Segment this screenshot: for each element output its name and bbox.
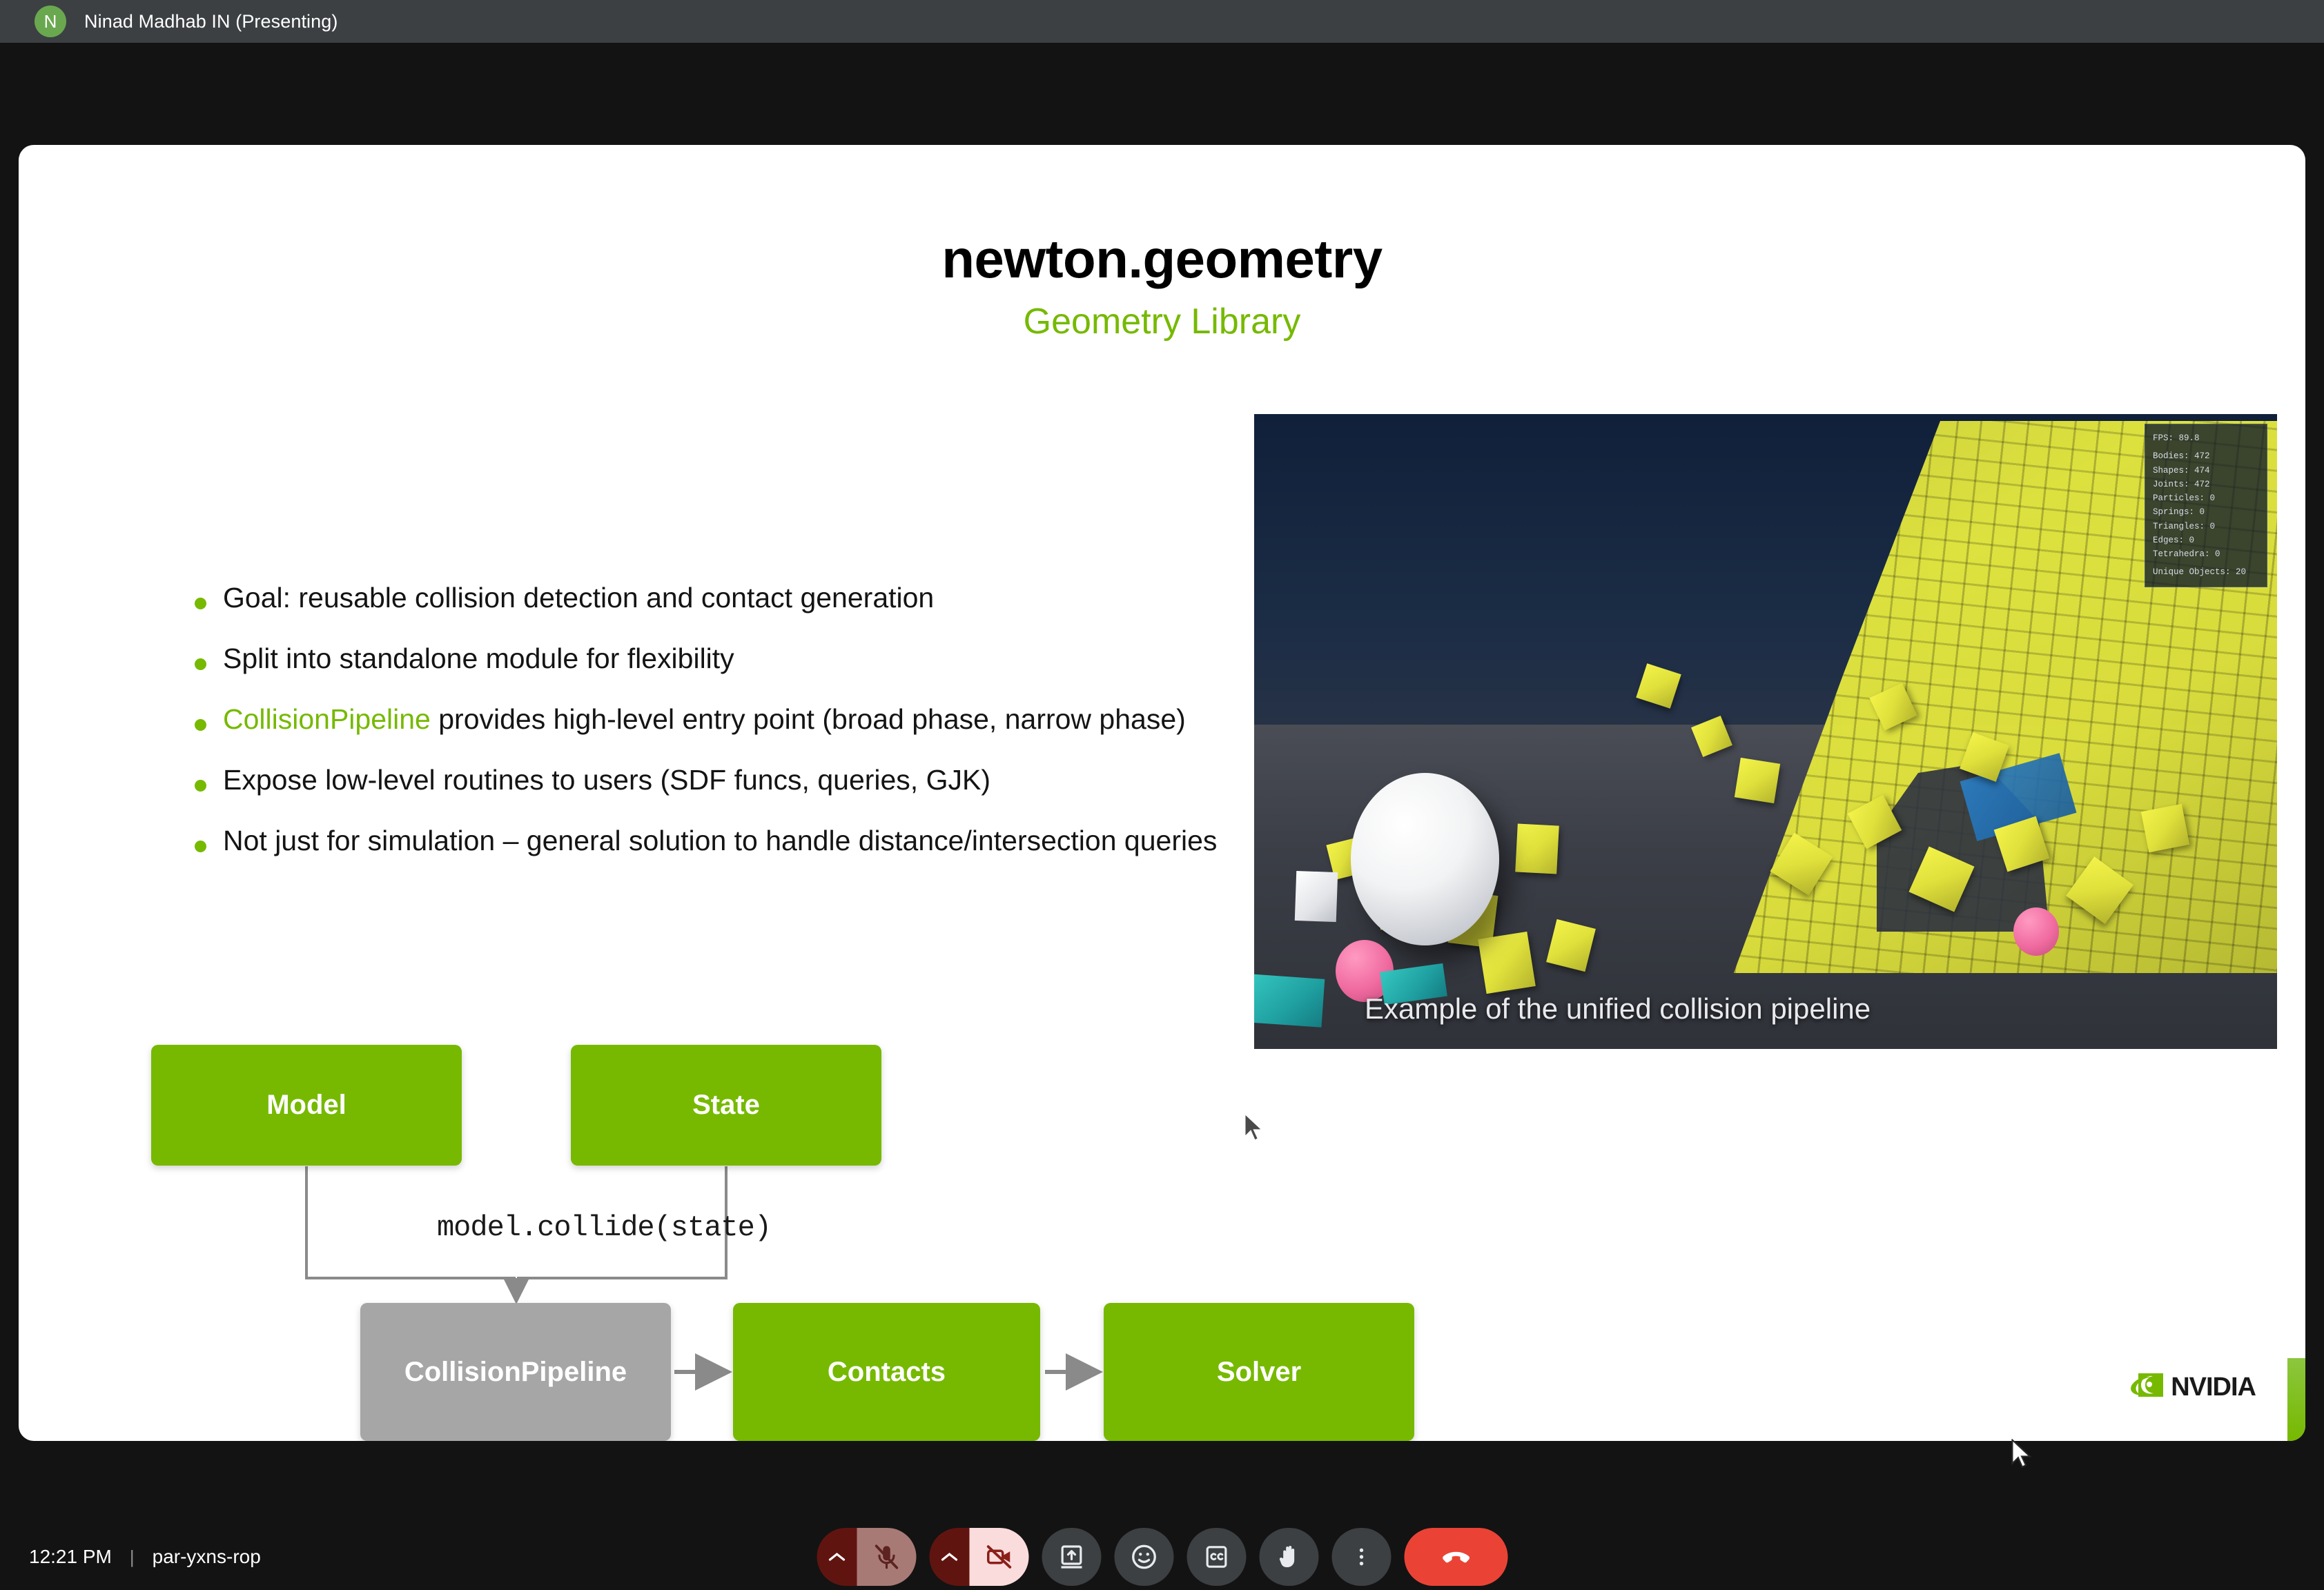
diagram-node-state[interactable]: State xyxy=(571,1045,881,1166)
white-sphere xyxy=(1351,773,1499,945)
phone-hangup-icon xyxy=(1439,1540,1472,1573)
pink-sphere xyxy=(2013,907,2059,956)
hud-joints: Joints: 472 xyxy=(2153,478,2259,491)
slide-title: newton.geometry xyxy=(19,228,2305,291)
microphone-mute-button[interactable] xyxy=(857,1528,916,1586)
list-item: Goal: reusable collision detection and c… xyxy=(195,580,1251,616)
nvidia-eye-icon xyxy=(2127,1372,2165,1402)
hud-fps: FPS: 89.8 xyxy=(2153,431,2259,445)
list-item: CollisionPipeline provides high-level en… xyxy=(195,701,1251,737)
chevron-up-icon xyxy=(939,1551,959,1563)
diagram-node-contacts[interactable]: Contacts xyxy=(733,1303,1040,1441)
hud-tetrahedra: Tetrahedra: 0 xyxy=(2153,547,2259,561)
bullet-list: Goal: reusable collision detection and c… xyxy=(195,580,1251,883)
presentation-slide[interactable]: newton.geometry Geometry Library Goal: r… xyxy=(19,145,2305,1441)
microphone-options-chevron[interactable] xyxy=(817,1528,857,1586)
camera-options-chevron[interactable] xyxy=(929,1528,969,1586)
meeting-bottom-bar: 12:21 PM | par-yxns-rop xyxy=(0,1524,2324,1590)
bullet-dot-icon xyxy=(195,719,206,731)
presenter-pill: N Ninad Madhab IN (Presenting) xyxy=(0,6,338,37)
bullet-dot-icon xyxy=(195,658,206,670)
hud-triangles: Triangles: 0 xyxy=(2153,520,2259,533)
cube xyxy=(2141,804,2189,852)
bullet-text-rest: provides high-level entry point (broad p… xyxy=(431,703,1186,735)
presenter-name: Ninad Madhab IN (Presenting) xyxy=(84,11,338,32)
microphone-toggle[interactable] xyxy=(817,1528,916,1586)
hud-edges: Edges: 0 xyxy=(2153,533,2259,547)
bullet-text: Goal: reusable collision detection and c… xyxy=(223,580,934,616)
bullet-text: Split into standalone module for flexibi… xyxy=(223,640,734,676)
avatar: N xyxy=(35,6,66,37)
nvidia-wordmark: NVIDIA xyxy=(2171,1373,2256,1402)
hud-bodies: Bodies: 472 xyxy=(2153,449,2259,463)
cube xyxy=(1735,758,1780,803)
hud-shapes: Shapes: 474 xyxy=(2153,464,2259,478)
bullet-text: Expose low-level routines to users (SDF … xyxy=(223,762,990,798)
status-separator: | xyxy=(130,1547,135,1568)
cube xyxy=(1636,663,1681,709)
list-item: Split into standalone module for flexibi… xyxy=(195,640,1251,676)
slide-subtitle: Geometry Library xyxy=(19,301,2305,342)
meeting-controls xyxy=(817,1528,1507,1586)
meeting-time: 12:21 PM xyxy=(29,1546,112,1568)
image-caption: Example of the unified collision pipelin… xyxy=(1365,992,1871,1025)
raise-hand-button[interactable] xyxy=(1259,1528,1318,1586)
teal-block xyxy=(1254,974,1325,1028)
inline-code-token: CollisionPipeline xyxy=(223,703,431,735)
raised-hand-icon xyxy=(1275,1543,1302,1571)
bullet-text: Not just for simulation – general soluti… xyxy=(223,823,1217,858)
simulation-image: FPS: 89.8 Bodies: 472 Shapes: 474 Joints… xyxy=(1254,414,2277,1049)
bullet-dot-icon xyxy=(195,598,206,609)
mouse-cursor xyxy=(2010,1439,2033,1469)
camera-off-button[interactable] xyxy=(969,1528,1028,1586)
cube xyxy=(1478,932,1536,994)
closed-caption-icon xyxy=(1202,1543,1230,1571)
present-now-button[interactable] xyxy=(1042,1528,1101,1586)
white-block xyxy=(1295,871,1338,922)
presenter-topbar: N Ninad Madhab IN (Presenting) xyxy=(0,0,2324,43)
bullet-dot-icon xyxy=(195,780,206,792)
chevron-up-icon xyxy=(826,1551,847,1563)
camera-toggle[interactable] xyxy=(929,1528,1028,1586)
cube xyxy=(1515,823,1559,874)
diagram-edge-label: model.collide(state) xyxy=(411,1211,797,1244)
list-item: Expose low-level routines to users (SDF … xyxy=(195,762,1251,798)
hud-springs: Springs: 0 xyxy=(2153,505,2259,519)
present-screen-icon xyxy=(1057,1543,1085,1571)
slide-accent-bar xyxy=(2287,1358,2305,1441)
mouse-cursor xyxy=(1242,1112,1266,1143)
end-call-button[interactable] xyxy=(1404,1528,1507,1586)
hud-unique-objects: Unique Objects: 20 xyxy=(2153,565,2259,579)
pipeline-diagram: Model State model.collide(state) Collisi… xyxy=(122,1035,1434,1422)
hud-particles: Particles: 0 xyxy=(2153,491,2259,505)
camera-off-icon xyxy=(984,1542,1013,1571)
simulation-hud: FPS: 89.8 Bodies: 472 Shapes: 474 Joints… xyxy=(2145,424,2267,587)
mic-off-icon xyxy=(872,1542,901,1571)
meeting-screen: N Ninad Madhab IN (Presenting) newton.ge… xyxy=(0,0,2324,1590)
list-item: Not just for simulation – general soluti… xyxy=(195,823,1251,858)
meeting-code: par-yxns-rop xyxy=(153,1546,261,1568)
three-dots-vertical-icon xyxy=(1349,1545,1373,1569)
diagram-node-collisionpipeline[interactable]: CollisionPipeline xyxy=(360,1303,671,1441)
emoji-smiley-icon xyxy=(1129,1542,1158,1571)
more-options-button[interactable] xyxy=(1331,1528,1391,1586)
bullet-text: CollisionPipeline provides high-level en… xyxy=(223,701,1186,737)
diagram-node-model[interactable]: Model xyxy=(151,1045,462,1166)
bullet-dot-icon xyxy=(195,841,206,852)
diagram-node-solver[interactable]: Solver xyxy=(1104,1303,1414,1441)
captions-button[interactable] xyxy=(1187,1528,1246,1586)
meeting-status: 12:21 PM | par-yxns-rop xyxy=(29,1546,261,1568)
nvidia-logo: NVIDIA xyxy=(2127,1372,2256,1402)
reactions-button[interactable] xyxy=(1114,1528,1173,1586)
